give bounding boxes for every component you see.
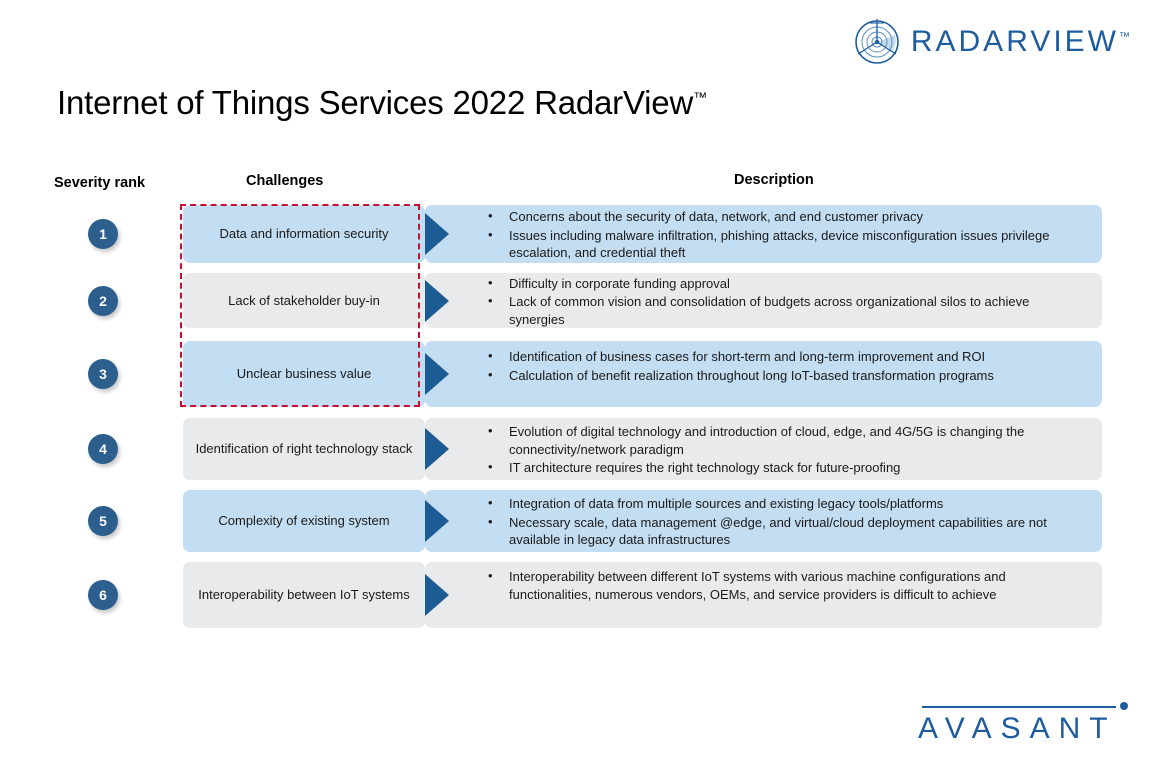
table-row: 2Lack of stakeholder buy-inDifficulty in…	[0, 273, 1152, 328]
description-bullet: Identification of business cases for sho…	[485, 348, 1084, 366]
avasant-rule	[922, 706, 1116, 708]
table-row: 6Interoperability between IoT systemsInt…	[0, 562, 1152, 628]
description-box: Evolution of digital technology and intr…	[425, 418, 1102, 480]
table-row: 3Unclear business valueIdentification of…	[0, 341, 1152, 407]
description-bullet: Integration of data from multiple source…	[485, 495, 1084, 513]
table-row: 1Data and information securityConcerns a…	[0, 205, 1152, 263]
description-bullet: Interoperability between different IoT s…	[485, 568, 1084, 603]
table-row: 4Identification of right technology stac…	[0, 418, 1152, 480]
challenge-box: Interoperability between IoT systems	[183, 562, 425, 628]
description-bullet: IT architecture requires the right techn…	[485, 459, 1084, 477]
description-bullet-list: Interoperability between different IoT s…	[485, 568, 1084, 604]
rank-badge: 5	[88, 506, 118, 536]
rank-badge: 1	[88, 219, 118, 249]
description-bullet-list: Concerns about the security of data, net…	[485, 208, 1084, 263]
description-bullet-list: Integration of data from multiple source…	[485, 495, 1084, 550]
description-bullet-list: Evolution of digital technology and intr…	[485, 423, 1084, 478]
description-bullet-list: Difficulty in corporate funding approval…	[485, 275, 1084, 330]
rank-badge: 2	[88, 286, 118, 316]
description-box: Interoperability between different IoT s…	[425, 562, 1102, 628]
description-box: Integration of data from multiple source…	[425, 490, 1102, 552]
challenge-box: Lack of stakeholder buy-in	[183, 273, 425, 328]
description-bullet: Concerns about the security of data, net…	[485, 208, 1084, 226]
description-bullet: Difficulty in corporate funding approval	[485, 275, 1084, 293]
description-box: Concerns about the security of data, net…	[425, 205, 1102, 263]
flow-arrow-icon	[425, 213, 451, 255]
challenge-box: Complexity of existing system	[183, 490, 425, 552]
description-box: Identification of business cases for sho…	[425, 341, 1102, 407]
avasant-dot	[1120, 702, 1128, 710]
description-bullet: Calculation of benefit realization throu…	[485, 367, 1084, 385]
flow-arrow-icon	[425, 428, 451, 470]
description-bullet: Lack of common vision and consolidation …	[485, 293, 1084, 328]
rank-badge: 4	[88, 434, 118, 464]
challenge-box: Data and information security	[183, 205, 425, 263]
challenges-table: 1Data and information securityConcerns a…	[0, 0, 1152, 768]
description-box: Difficulty in corporate funding approval…	[425, 273, 1102, 328]
flow-arrow-icon	[425, 500, 451, 542]
flow-arrow-icon	[425, 280, 451, 322]
description-bullet: Issues including malware infiltration, p…	[485, 227, 1084, 262]
rank-badge: 6	[88, 580, 118, 610]
rank-badge: 3	[88, 359, 118, 389]
challenge-box: Unclear business value	[183, 341, 425, 407]
flow-arrow-icon	[425, 574, 451, 616]
description-bullet: Necessary scale, data management @edge, …	[485, 514, 1084, 549]
challenge-box: Identification of right technology stack	[183, 418, 425, 480]
avasant-logo: AVASANT	[914, 694, 1134, 750]
avasant-wordmark: AVASANT	[918, 712, 1117, 746]
table-row: 5Complexity of existing systemIntegratio…	[0, 490, 1152, 552]
flow-arrow-icon	[425, 353, 451, 395]
description-bullet: Evolution of digital technology and intr…	[485, 423, 1084, 458]
description-bullet-list: Identification of business cases for sho…	[485, 348, 1084, 385]
